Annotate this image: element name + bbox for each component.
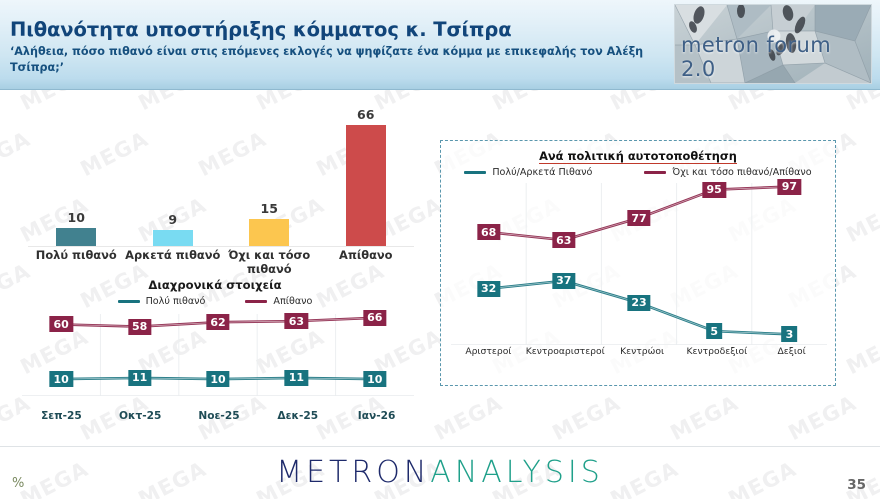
x-axis-label: Κεντροαριστεροί bbox=[526, 346, 605, 357]
legend-label: Πολύ πιθανό bbox=[146, 296, 206, 307]
bar-value-label: 66 bbox=[357, 107, 374, 122]
timeline-chart-legend: Πολύ πιθανόΑπίθανο bbox=[10, 296, 420, 307]
timeline-chart-plot: 10111011106058626366 bbox=[22, 314, 414, 396]
legend-item[interactable]: Πολύ πιθανό bbox=[118, 296, 206, 307]
bar-axis-label: Όχι και τόσο πιθανό bbox=[221, 248, 318, 276]
watermark-text: MEGA bbox=[843, 193, 880, 247]
political-self-placement-panel: Ανά πολιτική αυτοτοποθέτηση Πολύ/Αρκετά … bbox=[440, 140, 836, 386]
watermark-text: MEGA bbox=[667, 391, 743, 445]
bar-column: 66 bbox=[318, 98, 415, 246]
x-axis-label: Κεντροδεξιοί bbox=[680, 346, 755, 357]
bar-column: 10 bbox=[28, 98, 125, 246]
bar-column: 15 bbox=[221, 98, 318, 246]
bar-chart-x-axis: Πολύ πιθανόΑρκετά πιθανόΌχι και τόσο πιθ… bbox=[28, 248, 414, 276]
bar-rect bbox=[249, 219, 289, 246]
data-point-label: 77 bbox=[627, 210, 650, 226]
timeline-chart-title: Διαχρονικά στοιχεία bbox=[10, 278, 420, 292]
bar-value-label: 15 bbox=[261, 201, 278, 216]
bar-chart: 1091566 Πολύ πιθανόΑρκετά πιθανόΌχι και … bbox=[10, 96, 420, 268]
x-axis-label: Οκτ-25 bbox=[101, 410, 180, 422]
right-chart-legend: Πολύ/Αρκετά ΠιθανόΌχι και τόσο πιθανό/Απ… bbox=[441, 167, 835, 178]
right-chart-x-axis: ΑριστεροίΚεντροαριστεροίΚεντρώοιΚεντροδε… bbox=[451, 346, 829, 357]
bar-value-label: 9 bbox=[168, 212, 177, 227]
x-axis-label: Δεξιοί bbox=[754, 346, 829, 357]
data-point-label: 95 bbox=[703, 182, 726, 198]
data-point-label: 11 bbox=[285, 370, 308, 386]
legend-item[interactable]: Απίθανο bbox=[245, 296, 312, 307]
watermark-text: MEGA bbox=[549, 391, 625, 445]
x-axis-label: Σεπ-25 bbox=[22, 410, 101, 422]
legend-line-swatch bbox=[464, 171, 486, 174]
slide-footer: % METRONANALYSIS 35 bbox=[0, 446, 880, 499]
data-point-label: 3 bbox=[782, 326, 798, 342]
legend-item[interactable]: Όχι και τόσο πιθανό/Απίθανο bbox=[644, 167, 811, 178]
brand-metron: METRON bbox=[276, 455, 430, 490]
data-point-label: 23 bbox=[627, 295, 650, 311]
data-point-label: 5 bbox=[706, 323, 722, 339]
x-axis-label: Αριστεροί bbox=[451, 346, 526, 357]
x-axis-label: Κεντρώοι bbox=[605, 346, 680, 357]
legend-line-swatch bbox=[245, 300, 267, 303]
data-point-label: 63 bbox=[285, 313, 308, 329]
x-axis-label: Ιαν-26 bbox=[337, 410, 416, 422]
metron-forum-logo: metron forum 2.0 bbox=[674, 4, 872, 84]
data-point-label: 32 bbox=[477, 281, 500, 297]
data-point-label: 62 bbox=[206, 314, 229, 330]
data-point-label: 68 bbox=[477, 224, 500, 240]
legend-line-swatch bbox=[644, 171, 666, 174]
x-axis-label: Δεκ-25 bbox=[258, 410, 337, 422]
right-chart-plot: 323723536863779597 bbox=[451, 183, 827, 345]
line-chart-svg bbox=[451, 183, 827, 345]
bar-value-label: 10 bbox=[68, 210, 85, 225]
bar-axis-label: Πολύ πιθανό bbox=[28, 248, 125, 276]
brand-analysis: ANALYSIS bbox=[430, 455, 603, 490]
watermark-text: MEGA bbox=[843, 325, 880, 379]
data-point-label: 58 bbox=[128, 319, 151, 335]
timeline-chart-x-axis: Σεπ-25Οκτ-25Νοε-25Δεκ-25Ιαν-26 bbox=[22, 410, 416, 422]
legend-label: Απίθανο bbox=[273, 296, 312, 307]
legend-label: Όχι και τόσο πιθανό/Απίθανο bbox=[672, 167, 811, 178]
watermark-text: MEGA bbox=[431, 391, 507, 445]
page-subtitle: ‘Αλήθεια, πόσο πιθανό είναι στις επόμενε… bbox=[10, 44, 650, 76]
x-axis-label: Νοε-25 bbox=[180, 410, 259, 422]
data-point-label: 66 bbox=[363, 310, 386, 326]
data-point-label: 37 bbox=[552, 273, 575, 289]
right-chart-title: Ανά πολιτική αυτοτοποθέτηση bbox=[441, 149, 835, 163]
slide-root: MEGAMEGAMEGAMEGAMEGAMEGAMEGAMEGAMEGAMEGA… bbox=[0, 0, 880, 499]
bar-rect bbox=[56, 228, 96, 246]
bar-axis-label: Απίθανο bbox=[318, 248, 415, 276]
logo-text: metron forum 2.0 bbox=[681, 33, 871, 81]
legend-label: Πολύ/Αρκετά Πιθανό bbox=[492, 167, 592, 178]
watermark-text: MEGA bbox=[785, 391, 861, 445]
data-point-label: 10 bbox=[363, 371, 386, 387]
legend-line-swatch bbox=[118, 300, 140, 303]
metron-analysis-brand: METRONANALYSIS bbox=[0, 455, 880, 490]
page-title: Πιθανότητα υποστήριξης κόμματος κ. Τσίπρ… bbox=[10, 18, 512, 41]
timeline-line-chart: Διαχρονικά στοιχεία Πολύ πιθανόΑπίθανο 1… bbox=[10, 278, 420, 440]
bar-rect bbox=[346, 125, 386, 246]
bar-chart-plot: 1091566 bbox=[28, 98, 414, 247]
data-point-label: 60 bbox=[50, 316, 73, 332]
data-point-label: 97 bbox=[778, 179, 801, 195]
bar-rect bbox=[153, 230, 193, 246]
data-point-label: 11 bbox=[128, 370, 151, 386]
bar-axis-label: Αρκετά πιθανό bbox=[125, 248, 222, 276]
legend-item[interactable]: Πολύ/Αρκετά Πιθανό bbox=[464, 167, 592, 178]
data-point-label: 63 bbox=[552, 232, 575, 248]
bar-column: 9 bbox=[125, 98, 222, 246]
data-point-label: 10 bbox=[206, 371, 229, 387]
page-number: 35 bbox=[847, 477, 866, 493]
data-point-label: 10 bbox=[50, 371, 73, 387]
